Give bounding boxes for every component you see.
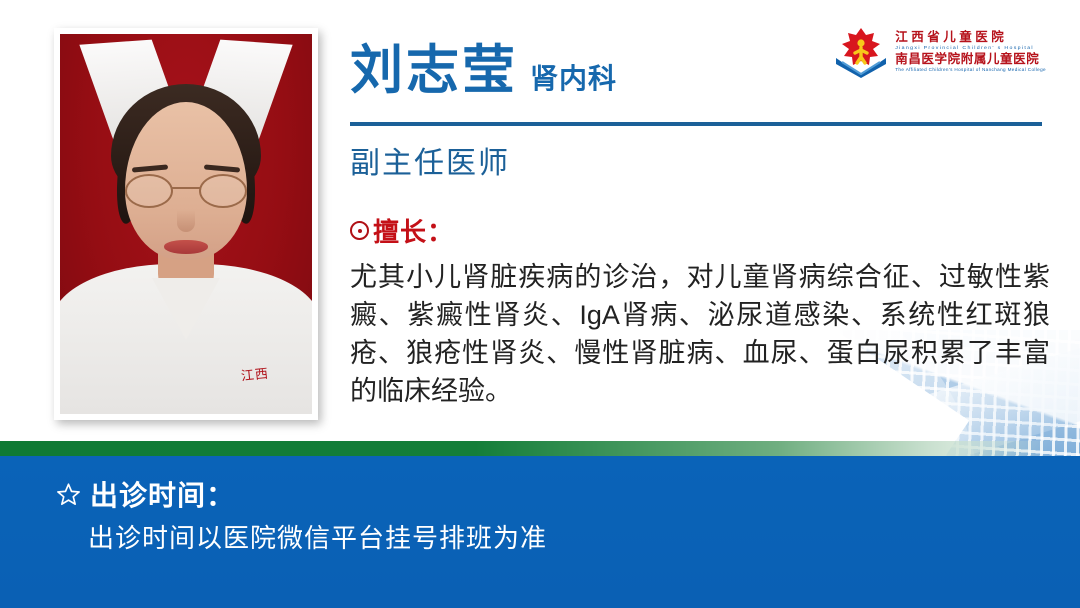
header-divider [350,122,1042,126]
doctor-profile-card: 江西 江西省儿童医院 Jiangxi Provincial Children' … [0,0,1080,608]
logo-line-en-secondary: The Affiliated Children's Hospital of Na… [895,68,1046,73]
star-icon [56,482,81,507]
lens-right [199,174,247,208]
doctor-name-row: 刘志莹 肾内科 [350,44,850,97]
clinic-hours-title: 出诊时间： [90,474,235,514]
green-divider-band [0,441,1080,456]
specialty-heading: 擅长： [350,212,454,249]
clinic-hours-banner: 出诊时间： 出诊时间以医院微信平台挂号排班为准 [0,456,1080,608]
logo-line-en-primary: Jiangxi Provincial Children' s Hospital [895,46,1046,51]
mouth [164,240,208,254]
circle-bullet-icon [350,221,369,240]
coat-collar [152,278,220,340]
lens-left [125,174,173,208]
logo-line-cn-secondary: 南昌医学院附属儿童医院 [895,53,1046,66]
eyeglasses-icon [125,174,247,206]
clinic-hours-note: 出诊时间以医院微信平台挂号排班为准 [88,518,547,555]
hospital-logo: 江西省儿童医院 Jiangxi Provincial Children' s H… [834,26,1046,78]
clinic-hours-heading: 出诊时间： [56,474,235,514]
glasses-bridge [171,187,201,189]
specialty-label: 擅长： [373,212,454,249]
hospital-logo-text: 江西省儿童医院 Jiangxi Provincial Children' s H… [895,31,1046,72]
doctor-name: 刘志莹 [350,44,518,97]
doctor-title: 副主任医师 [350,138,510,182]
specialty-body-text: 尤其小儿肾脏疾病的诊治，对儿童肾病综合征、过敏性紫癜、紫癜性肾炎、IgA肾病、泌… [350,258,1050,410]
nose [177,210,195,232]
department-name: 肾内科 [530,65,617,93]
doctor-portrait-photo: 江西 [60,34,312,414]
doctor-photo-frame: 江西 [54,28,318,420]
logo-line-cn-primary: 江西省儿童医院 [895,31,1046,44]
